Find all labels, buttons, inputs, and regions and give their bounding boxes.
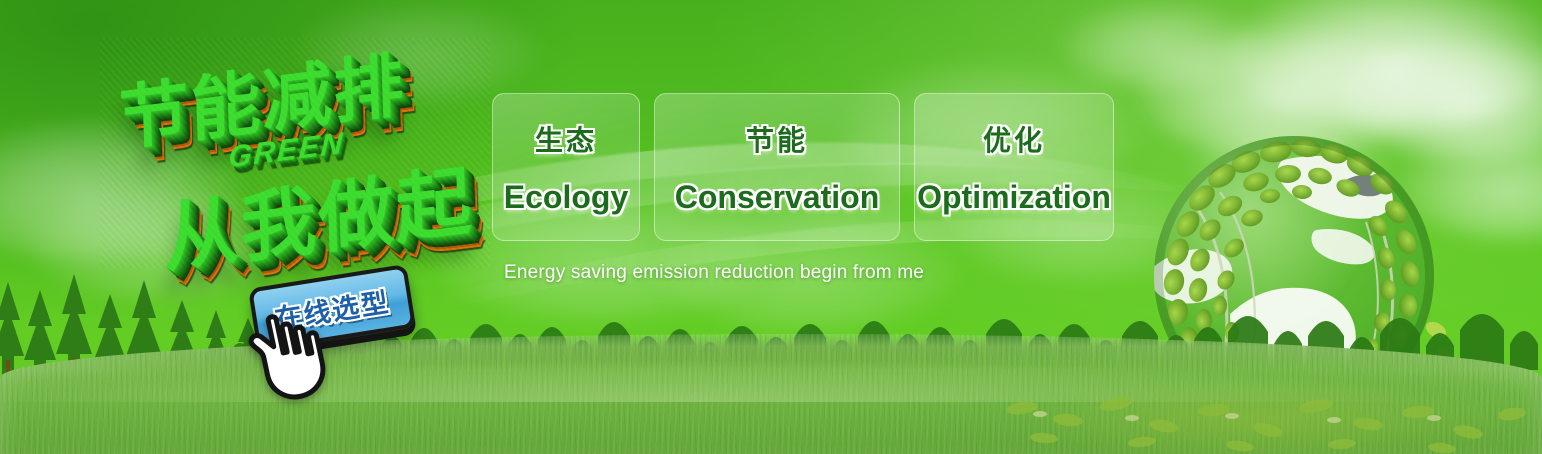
feature-card-conservation[interactable]: 节能 Conservation — [654, 93, 900, 241]
feature-card-cn-label: 节能 — [746, 119, 808, 159]
grass-meadow-icon — [0, 334, 1542, 454]
banner-tagline: Energy saving emission reduction begin f… — [504, 262, 924, 284]
feature-card-en-label: Ecology — [504, 179, 628, 216]
cloud-icon — [1230, 0, 1542, 130]
feature-card-en-label: Optimization — [917, 179, 1111, 216]
feature-card-optimization[interactable]: 优化 Optimization — [914, 93, 1114, 241]
eco-banner: 节能减排 GREEN 从我做起 在线选型 生态 Ecology 节能 Conse… — [0, 0, 1542, 454]
online-selection-cta[interactable]: 在线选型 — [252, 276, 422, 356]
hero-3d-headline: 节能减排 GREEN 从我做起 — [100, 38, 490, 268]
feature-card-ecology[interactable]: 生态 Ecology — [492, 93, 640, 241]
pointing-hand-cursor-icon — [242, 308, 334, 404]
headline-line-bottom: 从我做起 — [161, 139, 475, 287]
feature-card-cn-label: 优化 — [983, 119, 1045, 159]
feature-card-list: 生态 Ecology 节能 Conservation 优化 Optimizati… — [492, 93, 1114, 241]
feature-card-cn-label: 生态 — [535, 119, 597, 159]
feature-card-en-label: Conservation — [675, 179, 879, 216]
cloud-icon — [1060, 0, 1260, 90]
